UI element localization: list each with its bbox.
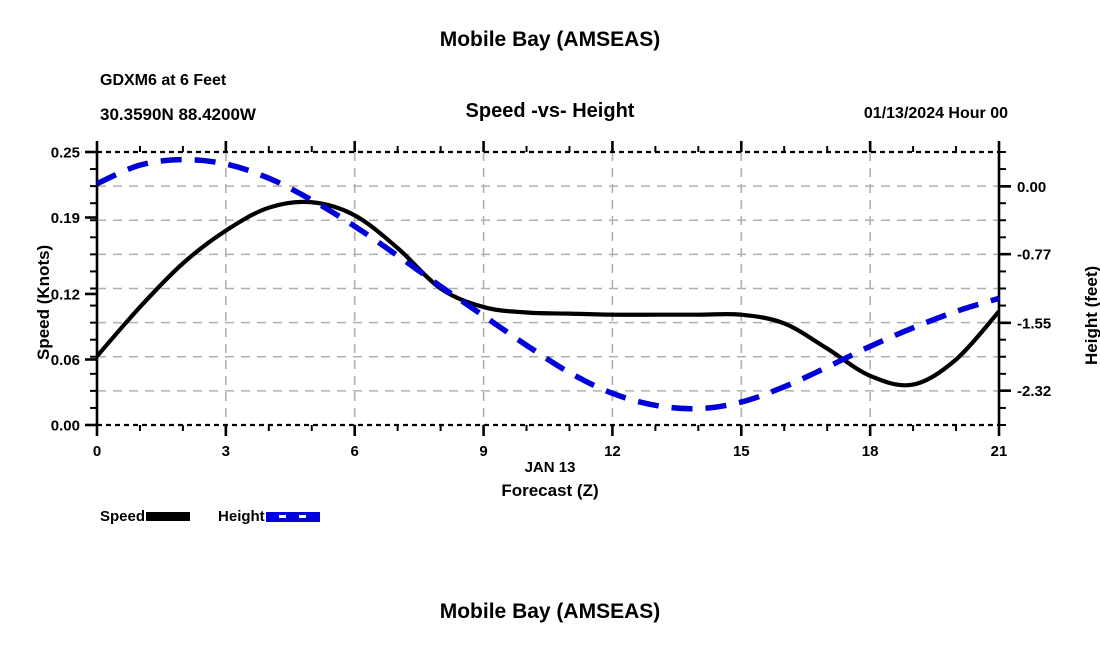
chart-page: Mobile Bay (AMSEAS) GDXM6 at 6 Feet 30.3…	[0, 0, 1100, 650]
x-axis-title: Forecast (Z)	[0, 481, 1100, 501]
svg-text:12: 12	[604, 443, 621, 460]
svg-text:0: 0	[93, 443, 101, 460]
svg-text:21: 21	[991, 443, 1008, 460]
svg-text:0.19: 0.19	[51, 210, 80, 227]
chart-plot-area: 0.000.060.120.190.250.00-0.77-1.55-2.320…	[0, 0, 1100, 650]
legend-item-height[interactable]: Height	[218, 508, 320, 525]
svg-text:15: 15	[733, 443, 750, 460]
svg-text:-0.77: -0.77	[1017, 247, 1051, 264]
chart-legend: Speed Height	[100, 508, 320, 525]
svg-text:0.00: 0.00	[1017, 179, 1046, 196]
svg-text:18: 18	[862, 443, 879, 460]
svg-text:9: 9	[479, 443, 487, 460]
x-axis-day-label: JAN 13	[0, 459, 1100, 476]
legend-spacer	[190, 516, 218, 517]
legend-swatch-height-icon	[266, 512, 320, 522]
svg-text:3: 3	[222, 443, 230, 460]
svg-text:6: 6	[351, 443, 359, 460]
legend-label-speed: Speed	[100, 508, 145, 525]
svg-text:0.00: 0.00	[51, 418, 80, 435]
svg-text:-1.55: -1.55	[1017, 315, 1051, 332]
legend-item-speed[interactable]: Speed	[100, 508, 190, 525]
legend-label-height: Height	[218, 508, 265, 525]
svg-text:0.25: 0.25	[51, 145, 80, 162]
page-title-bottom: Mobile Bay (AMSEAS)	[0, 600, 1100, 624]
svg-text:-2.32: -2.32	[1017, 383, 1051, 400]
svg-text:0.06: 0.06	[51, 352, 80, 369]
legend-swatch-speed-icon	[146, 512, 190, 521]
svg-text:0.12: 0.12	[51, 286, 80, 303]
